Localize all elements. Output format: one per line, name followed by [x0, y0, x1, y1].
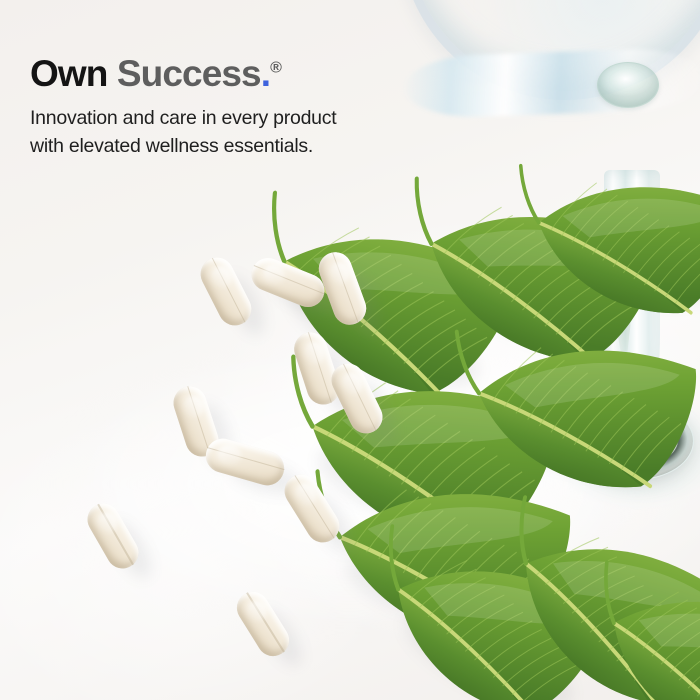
headline-period: . [261, 53, 270, 94]
page-subtitle: Innovation and care in every product wit… [30, 105, 460, 160]
page-title: Own Success.® [30, 55, 460, 94]
headline-word-own: Own [30, 53, 107, 94]
headline-word-success: Success [117, 53, 261, 94]
glass-droplet [597, 62, 659, 108]
product-banner: Own Success.® Innovation and care in eve… [0, 0, 700, 700]
text-block: Own Success.® Innovation and care in eve… [30, 55, 460, 160]
registered-trademark-icon: ® [270, 60, 282, 77]
subtitle-line-1: Innovation and care in every product [30, 105, 460, 133]
subtitle-line-2: with elevated wellness essentials. [30, 133, 460, 161]
